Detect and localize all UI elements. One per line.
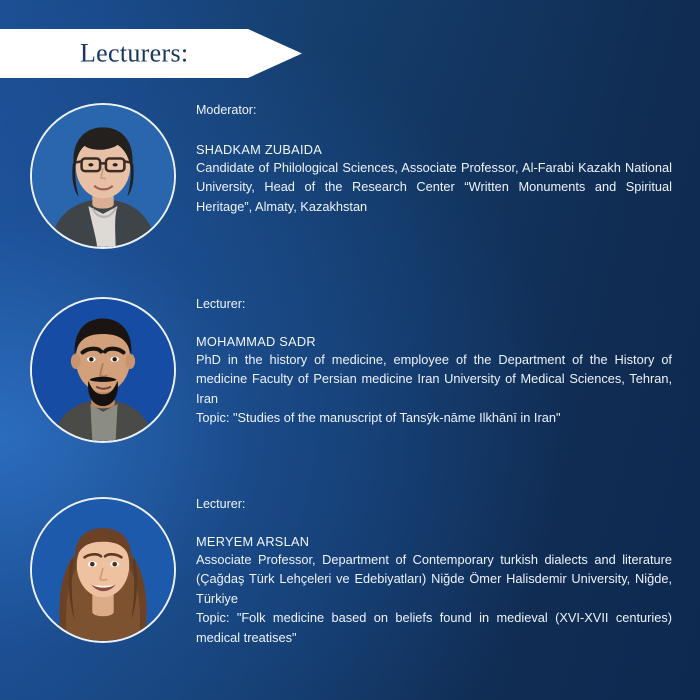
- avatar: [30, 497, 176, 643]
- lecturer-topic: Topic: "Folk medicine based on beliefs f…: [196, 608, 672, 647]
- role-label: Lecturer:: [196, 497, 672, 513]
- lecturer-name: SHADKAM ZUBAIDA: [196, 141, 672, 158]
- lecturer-info: Lecturer: MOHAMMAD SADR PhD in the histo…: [196, 297, 672, 428]
- portrait-mohammad-sadr-image: [32, 299, 174, 441]
- lecturer-bio: PhD in the history of medicine, employee…: [196, 350, 672, 408]
- lecturer-topic: Topic: "Studies of the manuscript of Tan…: [196, 408, 672, 427]
- header-banner: Lecturers:: [0, 29, 302, 78]
- avatar: [30, 103, 176, 249]
- portrait-meryem-arslan-image: [32, 499, 174, 641]
- lecturer-bio: Candidate of Philological Sciences, Asso…: [196, 158, 672, 216]
- role-label: Moderator:: [196, 103, 672, 119]
- lecturer-info: Moderator: SHADKAM ZUBAIDA Candidate of …: [196, 103, 672, 216]
- lecturer-bio: Associate Professor, Department of Conte…: [196, 550, 672, 608]
- lecturers-slide: Lecturers:: [0, 0, 700, 700]
- page-title: Lecturers:: [80, 38, 188, 68]
- lecturer-name: MOHAMMAD SADR: [196, 333, 672, 350]
- lecturer-name: MERYEM ARSLAN: [196, 533, 672, 550]
- avatar: [30, 297, 176, 443]
- portrait-shadkam-zubaida-image: [32, 105, 174, 247]
- lecturer-info: Lecturer: MERYEM ARSLAN Associate Profes…: [196, 497, 672, 647]
- role-label: Lecturer:: [196, 297, 672, 313]
